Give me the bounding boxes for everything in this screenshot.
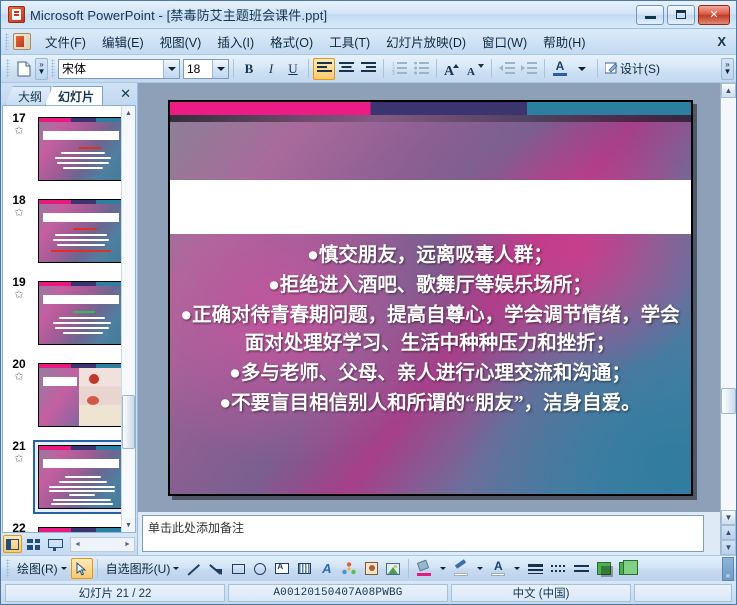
design-template-name: A00120150407A08PWBG xyxy=(228,584,448,602)
select-arrow-icon xyxy=(76,562,88,576)
formatting-toolbar-overflow[interactable]: »▼ xyxy=(721,58,734,80)
font-color-icon: A xyxy=(491,561,505,576)
thumb-title-bar xyxy=(43,213,119,222)
menu-item-insert[interactable]: 插入(I) xyxy=(209,29,262,54)
font-name-dropdown-icon[interactable] xyxy=(163,60,179,78)
font-color-dropdown-icon[interactable] xyxy=(571,58,593,80)
animation-star-icon: ✩ xyxy=(5,289,33,301)
vertical-textbox-icon xyxy=(298,563,311,574)
drawing-toolbar-grip[interactable] xyxy=(6,559,10,578)
arrow-style-icon xyxy=(574,562,589,575)
thumbnail-frame-selected[interactable] xyxy=(33,440,121,514)
language-indicator: 中文 (中国) xyxy=(451,584,631,602)
thumb-band xyxy=(39,446,121,450)
slide-thumbnail xyxy=(38,117,121,181)
font-color-button-draw[interactable]: A xyxy=(487,558,509,579)
slide-body-text[interactable]: ●慎交朋友，远离吸毒人群； ●拒绝进入酒吧、歌舞厅等娱乐场所； ●正确对待青春期… xyxy=(178,242,683,420)
align-right-button[interactable] xyxy=(357,58,379,80)
thumb-band xyxy=(39,528,121,532)
increase-indent-button[interactable] xyxy=(518,58,540,80)
bullets-button[interactable] xyxy=(410,58,432,80)
scroll-up-button[interactable]: ▲ xyxy=(721,83,736,98)
line-color-button[interactable] xyxy=(450,558,472,579)
slide-thumbnail xyxy=(38,199,121,263)
drawing-toolbar: 绘图(R) 自选图形(U) A A xyxy=(1,555,736,581)
notes-pane: 单击此处添加备注 xyxy=(138,512,720,555)
thumbnail-frame[interactable] xyxy=(33,358,121,432)
autoshapes-menu-button[interactable]: 自选图形(U) xyxy=(102,558,184,579)
slide-show-icon xyxy=(48,539,61,550)
design-icon xyxy=(605,62,620,75)
pane-tabs: 大纲 幻灯片 ✕ xyxy=(1,83,137,105)
powerpoint-window: Microsoft PowerPoint - [禁毒防艾主题班会课件.ppt] … xyxy=(0,0,737,605)
animation-star-icon: ✩ xyxy=(5,371,33,383)
slide-bullet-1: ●慎交朋友，远离吸毒人群； xyxy=(178,242,683,270)
thumbnail-number: 21 xyxy=(5,440,33,453)
thumbnail-scroll-thumb[interactable] xyxy=(122,395,135,449)
hscroll-left-icon[interactable]: ◄ xyxy=(71,541,84,548)
toolbar-grip-formatting[interactable] xyxy=(51,59,55,78)
clipart-button[interactable] xyxy=(360,558,382,579)
thumbnail-meta: 18 ✩ xyxy=(5,194,33,219)
slide-thumbnail-list: 17 ✩ xyxy=(2,105,136,533)
thumbnail-meta: 22 xyxy=(5,522,33,532)
increase-font-size-button[interactable]: A xyxy=(441,58,464,80)
animation-star-icon: ✩ xyxy=(5,207,33,219)
editing-pane: ●慎交朋友，远离吸毒人群； ●拒绝进入酒吧、歌舞厅等娱乐场所； ●正确对待青春期… xyxy=(138,83,720,555)
animation-star-icon: ✩ xyxy=(5,453,33,465)
thumb-title-bar xyxy=(43,459,119,468)
thumbnail-frame[interactable] xyxy=(33,194,121,268)
slide-bullet-4: ●多与老师、父母、亲人进行心理交流和沟通； xyxy=(178,360,683,388)
svg-text:3: 3 xyxy=(392,71,395,75)
next-slide-button[interactable]: ▼ xyxy=(721,540,736,555)
thumbnail-number: 22 xyxy=(5,522,33,532)
menu-bar: 文件(F) 编辑(E) 视图(V) 插入(I) 格式(O) 工具(T) 幻灯片放… xyxy=(1,29,736,55)
close-pane-icon[interactable]: ✕ xyxy=(120,86,131,102)
toolbar-divider xyxy=(544,59,545,78)
thumb-title-bar xyxy=(43,377,77,386)
line-color-icon xyxy=(454,561,468,576)
slide-thumbnail xyxy=(38,363,121,427)
menu-item-slideshow[interactable]: 幻灯片放映(D) xyxy=(378,29,474,54)
toolbar-divider xyxy=(436,59,437,78)
thumbnail-number: 19 xyxy=(5,276,33,289)
chevron-down-icon xyxy=(61,567,67,570)
thumb-band xyxy=(39,200,121,204)
title-bar: Microsoft PowerPoint - [禁毒防艾主题班会课件.ppt] … xyxy=(1,1,736,29)
3d-style-button[interactable] xyxy=(615,558,637,579)
toolbar-divider xyxy=(308,59,309,78)
align-center-button[interactable] xyxy=(335,58,357,80)
thumbnail-scrollbar[interactable]: ▲ ▼ xyxy=(121,106,135,532)
shadow-style-icon xyxy=(597,562,611,575)
line-tool-button[interactable] xyxy=(183,558,205,579)
line-color-dropdown-icon[interactable] xyxy=(472,558,487,579)
standard-toolbar-overflow[interactable]: »▼ xyxy=(35,58,48,80)
slide-shadow-strip xyxy=(170,115,691,122)
decrease-font-size-button[interactable]: A xyxy=(464,58,487,80)
font-name-value: 宋体 xyxy=(62,60,86,77)
oval-icon xyxy=(254,563,266,575)
drawing-toolbar-overflow[interactable]: » xyxy=(722,557,734,581)
close-button[interactable]: ✕ xyxy=(698,5,730,25)
slide-bullet-2: ●拒绝进入酒吧、歌舞厅等娱乐场所； xyxy=(178,272,683,300)
current-slide[interactable]: ●慎交朋友，远离吸毒人群； ●拒绝进入酒吧、歌舞厅等娱乐场所； ●正确对待青春期… xyxy=(168,100,693,496)
design-button[interactable]: 设计(S) xyxy=(602,58,663,80)
toolbar-divider xyxy=(233,59,234,78)
rectangle-icon xyxy=(232,564,245,574)
toolbar-divider xyxy=(491,59,492,78)
arrow-tool-button[interactable] xyxy=(205,558,227,579)
arrow-icon xyxy=(209,562,223,576)
tab-outline[interactable]: 大纲 xyxy=(5,86,51,105)
menu-item-file[interactable]: 文件(F) xyxy=(37,29,94,54)
menu-item-view[interactable]: 视图(V) xyxy=(152,29,210,54)
decrease-indent-button[interactable] xyxy=(496,58,518,80)
thumb-accent-line xyxy=(79,147,101,149)
underline-button[interactable]: U xyxy=(282,58,304,80)
font-color-button[interactable]: A xyxy=(549,58,571,80)
rectangle-tool-button[interactable] xyxy=(227,558,249,579)
normal-view-button[interactable] xyxy=(3,535,22,553)
slide-thumbnail xyxy=(38,281,121,345)
previous-slide-button[interactable]: ▲ xyxy=(721,525,736,540)
powerpoint-icon xyxy=(8,6,25,23)
wordart-icon: A xyxy=(319,562,334,576)
thumbnail-scroll-down-button[interactable]: ▼ xyxy=(122,518,135,532)
diagram-button[interactable] xyxy=(338,558,360,579)
thumb-accent-line xyxy=(51,250,111,252)
work-area: 大纲 幻灯片 ✕ 17 ✩ xyxy=(1,83,736,555)
menu-item-edit[interactable]: 编辑(E) xyxy=(94,29,152,54)
align-left-button[interactable] xyxy=(313,58,335,80)
select-objects-button[interactable] xyxy=(71,558,93,579)
toolbar-divider xyxy=(408,559,409,578)
slide-thumbnail xyxy=(38,445,121,509)
numbering-button[interactable]: 123 xyxy=(388,58,410,80)
line-icon xyxy=(187,562,201,576)
arrow-style-button[interactable] xyxy=(570,558,593,579)
insert-picture-button[interactable] xyxy=(382,558,404,579)
svg-text:A: A xyxy=(467,66,475,76)
vertical-textbox-button[interactable] xyxy=(293,558,315,579)
list-item[interactable]: 21 ✩ xyxy=(3,440,121,514)
design-label: 设计(S) xyxy=(620,60,660,77)
thumbnail-number: 20 xyxy=(5,358,33,371)
slide-bullet-3: ●正确对待青春期问题，提高自尊心，学会调节情绪，学会面对处理好学习、生活中种种压… xyxy=(178,302,683,358)
dash-style-button[interactable] xyxy=(547,558,570,579)
list-item[interactable]: 18 ✩ xyxy=(3,194,121,268)
slide-sorter-icon xyxy=(27,539,40,550)
slide-show-view-button[interactable] xyxy=(45,535,64,553)
list-item[interactable]: 22 xyxy=(3,522,121,532)
diagram-icon xyxy=(342,562,356,576)
fill-color-button[interactable] xyxy=(413,558,435,579)
3d-style-icon xyxy=(619,562,633,575)
thumb-accent-line xyxy=(73,228,97,230)
line-style-icon xyxy=(528,562,543,575)
close-document-button[interactable]: X xyxy=(717,34,726,49)
thumb-accent-line xyxy=(73,311,95,313)
scroll-down-button[interactable]: ▼ xyxy=(721,510,736,525)
font-name-input[interactable]: 宋体 xyxy=(58,59,180,79)
thumb-photo xyxy=(79,368,121,426)
status-spare-cell xyxy=(634,584,732,602)
bold-button[interactable]: B xyxy=(238,58,260,80)
thumbnail-meta: 19 ✩ xyxy=(5,276,33,301)
thumb-band xyxy=(39,118,121,122)
list-item[interactable]: 19 ✩ xyxy=(3,276,121,350)
scroll-thumb[interactable] xyxy=(721,388,736,414)
fill-color-dropdown-icon[interactable] xyxy=(435,558,450,579)
font-color-icon: A xyxy=(553,61,567,76)
thumbnail-meta: 20 ✩ xyxy=(5,358,33,383)
thumb-title-bar xyxy=(43,295,119,304)
fill-color-icon xyxy=(417,561,431,576)
toolbar-divider xyxy=(383,59,384,78)
slide-accent-band xyxy=(170,102,691,115)
thumbnail-meta: 17 ✩ xyxy=(5,112,33,137)
slide-counter: 幻灯片 21 / 22 xyxy=(5,584,225,602)
thumbnail-scroll-up-button[interactable]: ▲ xyxy=(122,106,135,120)
menu-item-format[interactable]: 格式(O) xyxy=(262,29,321,54)
thumbnail-frame[interactable] xyxy=(33,112,121,186)
thumbnail-number: 17 xyxy=(5,112,33,125)
document-icon xyxy=(13,33,31,50)
slide-sorter-view-button[interactable] xyxy=(24,535,43,553)
maximize-button[interactable] xyxy=(667,5,695,25)
draw-menu-label: 绘图(R) xyxy=(17,560,58,577)
list-item[interactable]: 20 ✩ xyxy=(3,358,121,432)
draw-menu-button[interactable]: 绘图(R) xyxy=(13,558,71,579)
slide-thumbnail xyxy=(38,527,121,532)
shadow-style-button[interactable] xyxy=(593,558,615,579)
italic-button[interactable]: I xyxy=(260,58,282,80)
toolbar-grip-standard[interactable] xyxy=(6,59,10,78)
status-bar: 幻灯片 21 / 22 A00120150407A08PWBG 中文 (中国) xyxy=(1,581,736,604)
menu-item-help[interactable]: 帮助(H) xyxy=(535,29,593,54)
wordart-button[interactable]: A xyxy=(315,558,338,579)
menu-item-tools[interactable]: 工具(T) xyxy=(321,29,378,54)
slide-canvas[interactable]: ●慎交朋友，远离吸毒人群； ●拒绝进入酒吧、歌舞厅等娱乐场所； ●正确对待青春期… xyxy=(138,83,720,512)
thumbnail-hscrollbar[interactable]: ◄ ► xyxy=(70,537,135,552)
minimize-button[interactable] xyxy=(636,5,664,25)
slide-bullet-5: ●不要盲目相信别人和所谓的“朋友”，洁身自爱。 xyxy=(178,390,683,418)
animation-star-icon: ✩ xyxy=(5,125,33,137)
thumbnail-scroll-track[interactable] xyxy=(122,120,135,518)
font-size-dropdown-icon[interactable] xyxy=(212,60,228,78)
view-buttons-bar: ◄ ► xyxy=(1,533,137,555)
textbox-tool-button[interactable] xyxy=(271,558,293,579)
thumb-title-bar xyxy=(43,131,119,140)
autoshapes-label: 自选图形(U) xyxy=(106,560,171,577)
thumbnail-number: 18 xyxy=(5,194,33,207)
toolbar-divider xyxy=(597,59,598,78)
thumb-band xyxy=(39,282,121,286)
thumbnail-frame[interactable] xyxy=(33,522,121,532)
normal-view-icon xyxy=(6,539,19,550)
line-style-button[interactable] xyxy=(524,558,547,579)
oval-tool-button[interactable] xyxy=(249,558,271,579)
slide-thumbnail-container: 17 ✩ xyxy=(3,106,121,532)
font-size-value: 18 xyxy=(187,62,200,76)
slide-title-placeholder[interactable] xyxy=(170,180,691,234)
window-controls: ✕ xyxy=(636,5,732,25)
chevron-down-icon xyxy=(173,567,179,570)
scroll-track[interactable] xyxy=(721,98,736,510)
clipart-icon xyxy=(365,562,378,575)
menu-grip[interactable] xyxy=(5,33,9,50)
tab-slides[interactable]: 幻灯片 xyxy=(45,86,103,105)
thumbnail-meta: 21 ✩ xyxy=(5,440,33,465)
textbox-icon xyxy=(275,563,289,574)
window-title: Microsoft PowerPoint - [禁毒防艾主题班会课件.ppt] xyxy=(30,5,327,24)
svg-text:A: A xyxy=(444,64,455,76)
dash-style-icon xyxy=(551,562,566,575)
menu-item-window[interactable]: 窗口(W) xyxy=(474,29,535,54)
font-color-dropdown-icon-draw[interactable] xyxy=(509,558,524,579)
list-item[interactable]: 17 ✩ xyxy=(3,112,121,186)
slide-vertical-scrollbar[interactable]: ▲ ▼ ▲ ▼ xyxy=(720,83,736,555)
toolbar-divider xyxy=(97,559,98,578)
formatting-toolbar: »▼ 宋体 18 B I U 123 xyxy=(1,55,736,83)
notes-placeholder[interactable]: 单击此处添加备注 xyxy=(142,515,704,552)
slides-outline-pane: 大纲 幻灯片 ✕ 17 ✩ xyxy=(1,83,138,555)
picture-icon xyxy=(386,563,400,575)
thumbnail-frame[interactable] xyxy=(33,276,121,350)
font-size-input[interactable]: 18 xyxy=(183,59,229,79)
hscroll-right-icon[interactable]: ► xyxy=(121,541,134,548)
new-document-icon[interactable] xyxy=(13,58,35,80)
